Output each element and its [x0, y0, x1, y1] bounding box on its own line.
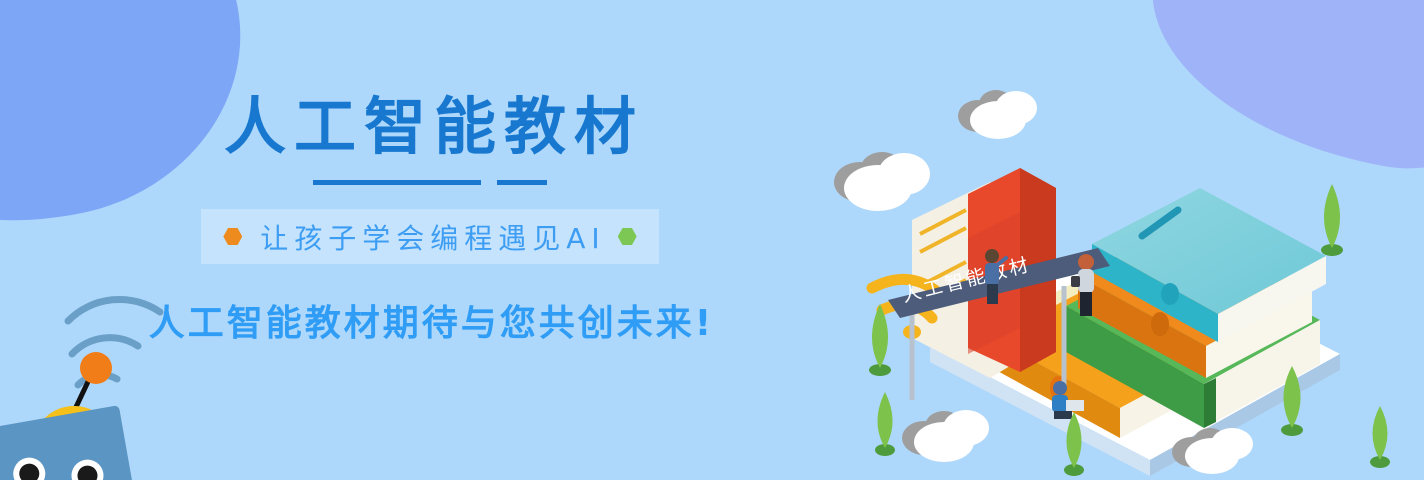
- page-title: 人工智能教材: [0, 96, 860, 158]
- divider-line-short: [497, 180, 547, 185]
- tree-icon: [1370, 406, 1390, 468]
- cloud-icon: [834, 152, 930, 211]
- title-divider: [0, 180, 860, 185]
- hexagon-right-icon: [618, 228, 637, 245]
- subtitle-text: 让孩子学会编程遇见AI: [254, 217, 605, 257]
- cloud-icon: [902, 410, 989, 462]
- antenna-ball-icon: [80, 352, 112, 384]
- tree-icon: [869, 304, 891, 376]
- robot-mascot: [0, 246, 188, 480]
- banner-root: 人工智能教材 让孩子学会编程遇见AI 人工智能教材期待与您共创未来!: [0, 0, 1424, 480]
- isometric-illustration: 人工智能教材: [820, 70, 1424, 480]
- cloud-icon: [958, 90, 1037, 139]
- tree-icon: [1321, 184, 1343, 256]
- subtitle-band: 让孩子学会编程遇见AI: [201, 209, 658, 264]
- divider-line-long: [313, 180, 481, 185]
- hexagon-left-icon: [223, 228, 242, 245]
- tree-icon: [875, 392, 895, 456]
